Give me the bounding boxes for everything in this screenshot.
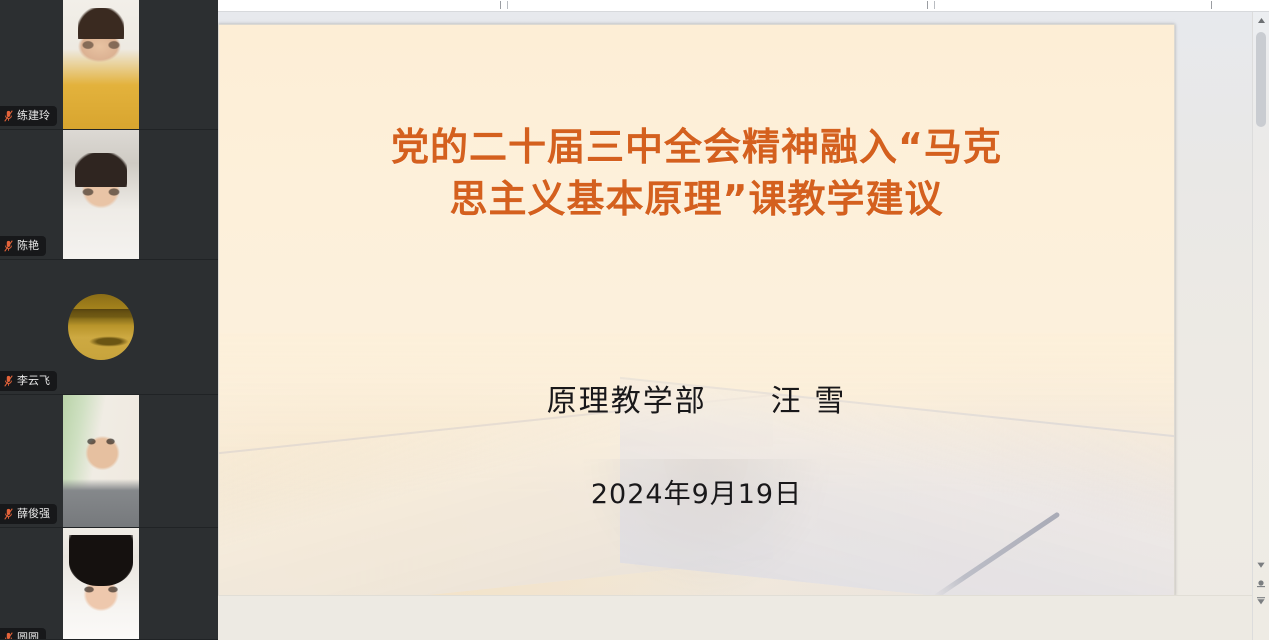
participant-video-feed (63, 0, 139, 129)
slide-canvas[interactable]: 党的二十届三中全会精神融入“马克 思主义基本原理”课教学建议 原理教学部 汪 雪… (218, 24, 1175, 596)
horizontal-ruler[interactable] (218, 0, 1269, 12)
slide-navigation-buttons[interactable] (1253, 561, 1269, 606)
participant-name: 薛俊强 (17, 509, 50, 520)
participant-video-feed (63, 395, 139, 527)
mic-muted-icon (4, 508, 13, 520)
slide-editor: 党的二十届三中全会精神融入“马克 思主义基本原理”课教学建议 原理教学部 汪 雪… (218, 0, 1269, 640)
participant-tile[interactable]: 薛俊强 (0, 395, 218, 528)
circle-dot-icon[interactable] (1256, 578, 1266, 588)
participant-tile[interactable]: 李云飞 (0, 260, 218, 395)
caret-up-double-icon[interactable] (1256, 561, 1266, 569)
book-background-illustration (219, 333, 1174, 595)
participant-name: 练建玲 (17, 111, 50, 122)
mic-muted-icon (4, 240, 13, 252)
caret-down-double-icon[interactable] (1256, 597, 1266, 606)
slide-date-line[interactable]: 2024年9月19日 (276, 472, 1116, 511)
editor-bottom-strip (218, 595, 1269, 640)
participant-name: 陈艳 (17, 241, 39, 252)
ruler-tick (1211, 1, 1212, 9)
mic-muted-icon (4, 110, 13, 122)
ruler-tick (934, 1, 935, 9)
presentation-with-video-conference: 练建玲 陈艳 (0, 0, 1269, 640)
participant-name-badge: 练建玲 (0, 106, 57, 126)
slide-title[interactable]: 党的二十届三中全会精神融入“马克 思主义基本原理”课教学建议 (276, 122, 1116, 225)
participant-tile[interactable]: 练建玲 (0, 0, 218, 130)
ruler-tick (507, 1, 508, 9)
participant-avatar-area (63, 260, 139, 394)
vertical-scrollbar[interactable] (1252, 12, 1269, 640)
scrollbar-thumb[interactable] (1256, 32, 1266, 127)
slide-author-line[interactable]: 原理教学部 汪 雪 (276, 376, 1116, 420)
ruler-tick (500, 1, 501, 9)
participant-name-badge: 李云飞 (0, 371, 57, 391)
participant-name: 李云飞 (17, 376, 50, 387)
slide-title-line-1: 党的二十届三中全会精神融入“马克 (276, 122, 1116, 174)
avatar (68, 294, 134, 360)
participant-video-strip[interactable]: 练建玲 陈艳 (0, 0, 218, 640)
participant-video-feed (63, 528, 139, 639)
ruler-tick (927, 1, 928, 9)
mic-muted-icon (4, 632, 13, 640)
mic-muted-icon (4, 375, 13, 387)
participant-name-badge: 薛俊强 (0, 504, 57, 524)
participant-video-feed (63, 130, 139, 259)
participant-name: 圆圆 (17, 633, 39, 640)
caret-up-icon (1257, 17, 1266, 24)
participant-name-badge: 圆圆 (0, 628, 46, 640)
slide-title-line-2: 思主义基本原理”课教学建议 (276, 174, 1116, 226)
participant-name-badge: 陈艳 (0, 236, 46, 256)
participant-tile[interactable]: 圆圆 (0, 528, 218, 640)
participant-tile[interactable]: 陈艳 (0, 130, 218, 260)
scroll-up-button[interactable] (1253, 12, 1269, 28)
